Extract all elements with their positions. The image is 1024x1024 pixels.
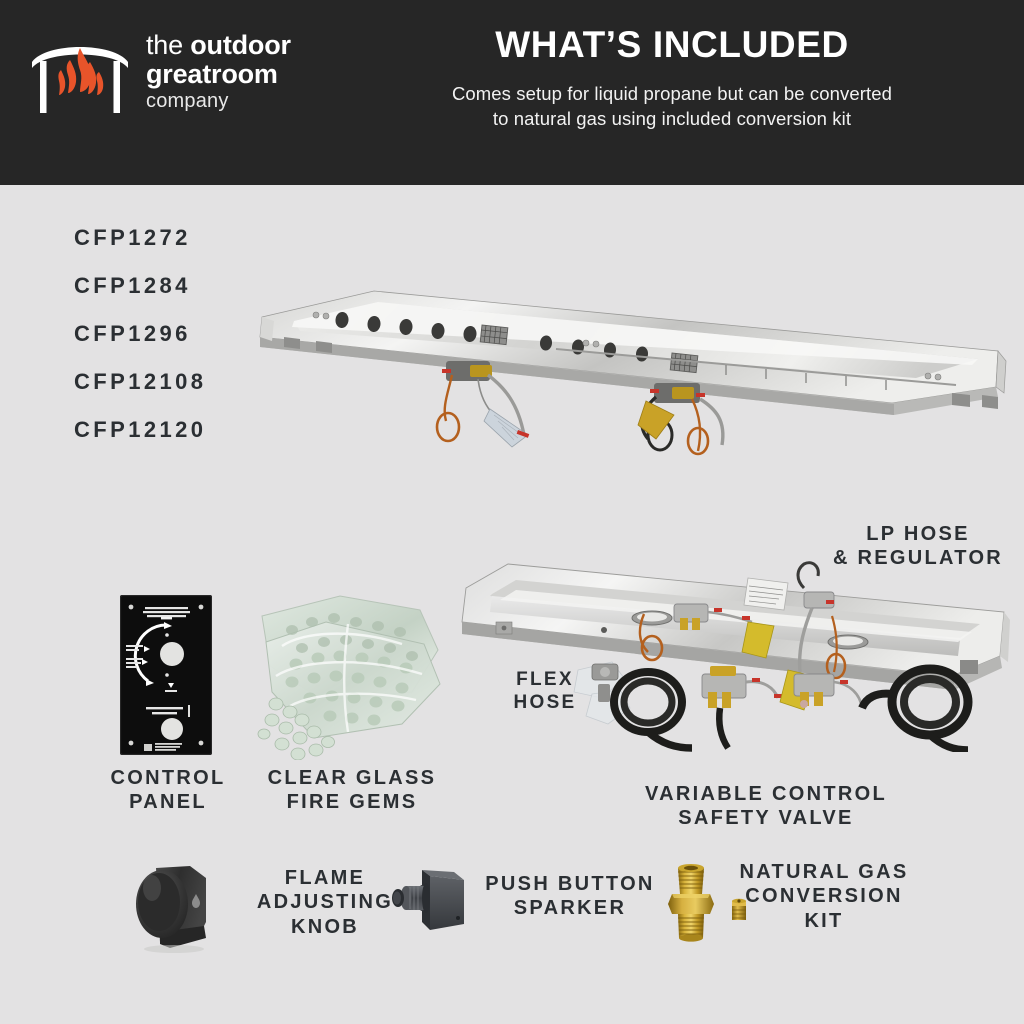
secondary-burner-pan-image	[452, 552, 1012, 752]
label-push-button-sparker: PUSH BUTTON SPARKER	[462, 872, 678, 921]
label-lp-hose-regulator: LP HOSE & REGULATOR	[812, 522, 1024, 571]
label-control-panel: CONTROL PANEL	[84, 766, 252, 815]
pergola-flame-logo-icon	[28, 26, 132, 114]
conversion-line-1: NATURAL GAS	[728, 860, 920, 884]
push-button-sparker-image	[382, 866, 474, 946]
sparker-line-2: SPARKER	[462, 896, 678, 920]
label-natural-gas-conversion-kit: NATURAL GAS CONVERSION KIT	[728, 860, 920, 933]
lp-hose-line-2: & REGULATOR	[812, 546, 1024, 570]
label-clear-glass-fire-gems: CLEAR GLASS FIRE GEMS	[244, 766, 460, 815]
page-subtitle: Comes setup for liquid propane but can b…	[352, 82, 992, 132]
subtitle-line-1: Comes setup for liquid propane but can b…	[352, 82, 992, 107]
flex-hose-line-2: HOSE	[486, 691, 604, 714]
subtitle-line-2: to natural gas using included conversion…	[352, 107, 992, 132]
header-text-block: WHAT’S INCLUDED Comes setup for liquid p…	[352, 24, 992, 132]
control-panel-line-1: CONTROL	[84, 766, 252, 790]
fire-gems-line-1: CLEAR GLASS	[244, 766, 460, 790]
clear-glass-fire-gems-image	[252, 588, 448, 760]
label-variable-control-safety-valve: VARIABLE CONTROL SAFETY VALVE	[620, 782, 912, 831]
brand-wordmark: the outdoor greatroom company	[146, 30, 291, 111]
model-number: CFP1272	[74, 225, 206, 251]
valve-line-2: SAFETY VALVE	[620, 806, 912, 830]
brand-logo: the outdoor greatroom company	[28, 26, 291, 114]
brand-line-2: greatroom	[146, 61, 291, 88]
header-bar: the outdoor greatroom company WHAT’S INC…	[0, 0, 1024, 185]
conversion-line-2: CONVERSION	[728, 884, 920, 908]
model-number-list: CFP1272 CFP1284 CFP1296 CFP12108 CFP1212…	[74, 225, 206, 465]
brand-line-1: the outdoor	[146, 32, 291, 59]
sparker-line-1: PUSH BUTTON	[462, 872, 678, 896]
conversion-line-3: KIT	[728, 909, 920, 933]
label-flex-hose: FLEX HOSE	[486, 668, 604, 714]
control-panel-line-2: PANEL	[84, 790, 252, 814]
fire-gems-line-2: FIRE GEMS	[244, 790, 460, 814]
model-number: CFP1284	[74, 273, 206, 299]
brand-line-3: company	[146, 91, 291, 111]
flame-adjusting-knob-image	[126, 856, 224, 956]
page-title: WHAT’S INCLUDED	[352, 24, 992, 66]
flex-hose-line-1: FLEX	[486, 668, 604, 691]
lp-hose-line-1: LP HOSE	[812, 522, 1024, 546]
model-number: CFP12108	[74, 369, 206, 395]
model-number: CFP12120	[74, 417, 206, 443]
main-burner-pan-image	[256, 275, 1008, 460]
valve-line-1: VARIABLE CONTROL	[620, 782, 912, 806]
control-panel-image	[120, 595, 212, 755]
model-number: CFP1296	[74, 321, 206, 347]
